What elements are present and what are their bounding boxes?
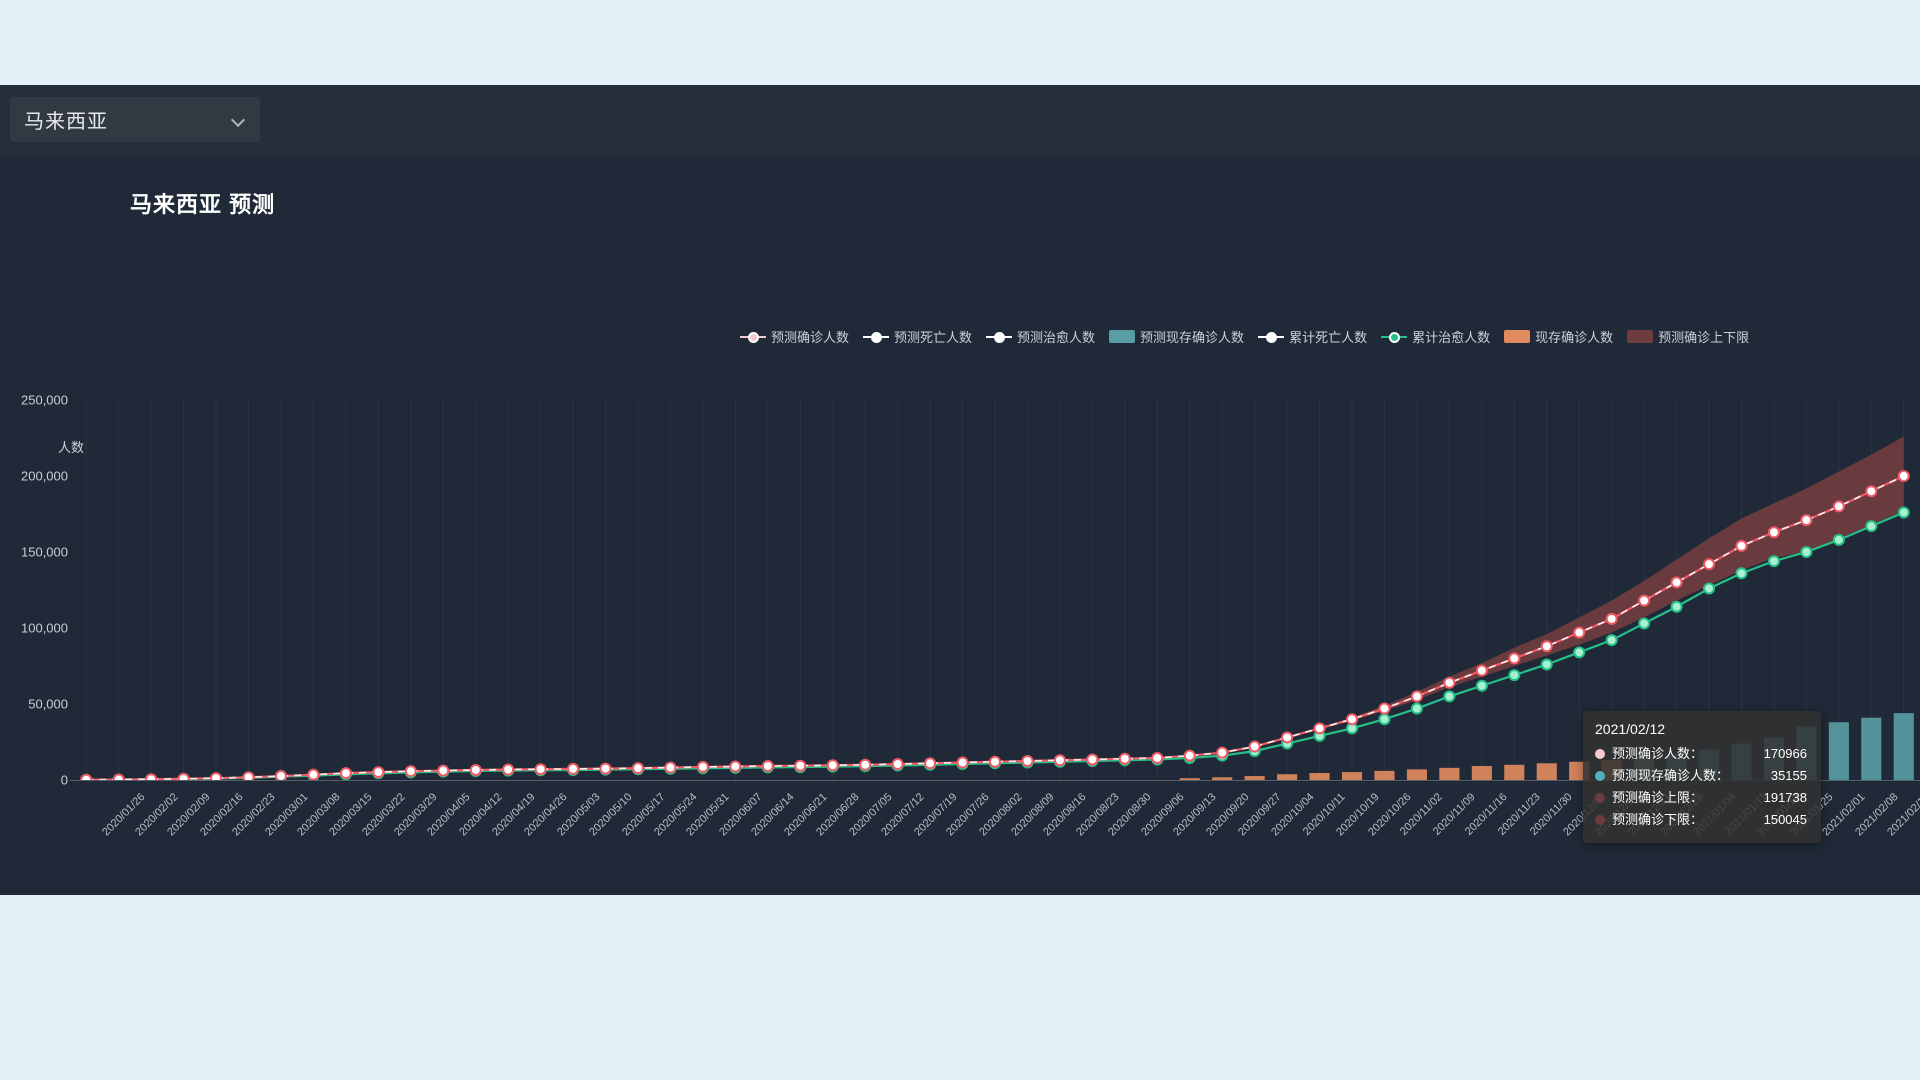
dashboard-window: 马来西亚 ? 马来西亚 预测 预测确诊人数预测死亡人数预测治愈人数预测现存确诊人… [0,85,1920,895]
y-tick-label: 0 [61,773,68,788]
country-select-value: 马来西亚 [24,105,232,134]
legend-line-icon [1258,330,1284,344]
tooltip-row-1: 预测现存确诊人数：35155 [1595,765,1807,787]
legend-label: 预测确诊上下限 [1658,327,1749,346]
legend-label: 预测死亡人数 [894,327,972,346]
tooltip-series-name: 预测确诊上限： [1612,787,1703,809]
tooltip-series-value: 35155 [1771,765,1807,787]
tooltip-series-dot [1595,815,1605,825]
y-tick-label: 50,000 [28,697,68,712]
top-bar: 马来西亚 [0,85,1920,155]
tooltip-row-2: 预测确诊上限：191738 [1595,787,1807,809]
tooltip-series-value: 170966 [1764,743,1807,765]
legend-label: 累计治愈人数 [1412,327,1490,346]
country-select[interactable]: 马来西亚 [10,97,260,142]
legend-line-icon [1381,330,1407,344]
tooltip-series-dot [1595,793,1605,803]
legend-swatch-icon [1109,330,1135,343]
chart-title: 马来西亚 预测 [130,187,275,219]
y-tick-label: 200,000 [21,469,68,484]
legend-label: 预测治愈人数 [1017,327,1095,346]
legend-item-2[interactable]: 预测治愈人数 [986,327,1095,346]
legend-item-3[interactable]: 预测现存确诊人数 [1109,327,1244,346]
legend-swatch-icon [1627,330,1653,343]
legend-item-0[interactable]: 预测确诊人数 [740,327,849,346]
legend-label: 预测现存确诊人数 [1140,327,1244,346]
legend-item-7[interactable]: 预测确诊上下限 [1627,327,1749,346]
legend-item-6[interactable]: 现存确诊人数 [1504,327,1613,346]
tooltip-series-dot [1595,749,1605,759]
tooltip-series-value: 191738 [1764,787,1807,809]
forecast-chart: 马来西亚 预测 预测确诊人数预测死亡人数预测治愈人数预测现存确诊人数累计死亡人数… [0,155,1920,895]
page-root: 马来西亚 ? 马来西亚 预测 预测确诊人数预测死亡人数预测治愈人数预测现存确诊人… [0,0,1920,1080]
tooltip-row-0: 预测确诊人数：170966 [1595,743,1807,765]
legend-label: 预测确诊人数 [771,327,849,346]
legend-label: 累计死亡人数 [1289,327,1367,346]
y-tick-label: 100,000 [21,621,68,636]
legend-swatch-icon [1504,330,1530,343]
tooltip-rows: 预测确诊人数：170966预测现存确诊人数：35155预测确诊上限：191738… [1595,743,1807,831]
tooltip-series-dot [1595,771,1605,781]
tooltip-date: 2021/02/12 [1595,721,1807,737]
tooltip-series-name: 预测确诊下限： [1612,809,1703,831]
y-tick-label: 150,000 [21,545,68,560]
legend-line-icon [863,330,889,344]
legend-item-5[interactable]: 累计治愈人数 [1381,327,1490,346]
legend-item-1[interactable]: 预测死亡人数 [863,327,972,346]
chevron-down-icon [232,115,246,124]
chart-tooltip: 2021/02/12 预测确诊人数：170966预测现存确诊人数：35155预测… [1583,711,1821,843]
tooltip-series-name: 预测确诊人数： [1612,743,1703,765]
legend-item-4[interactable]: 累计死亡人数 [1258,327,1367,346]
tooltip-row-3: 预测确诊下限：150045 [1595,809,1807,831]
y-axis: 050,000100,000150,000200,000250,000 [0,400,68,780]
legend-line-icon [986,330,1012,344]
chart-legend: 预测确诊人数预测死亡人数预测治愈人数预测现存确诊人数累计死亡人数累计治愈人数现存… [740,327,1749,346]
legend-line-icon [740,330,766,344]
tooltip-series-value: 150045 [1764,809,1807,831]
tooltip-series-name: 预测现存确诊人数： [1612,765,1729,787]
legend-label: 现存确诊人数 [1535,327,1613,346]
y-tick-label: 250,000 [21,393,68,408]
